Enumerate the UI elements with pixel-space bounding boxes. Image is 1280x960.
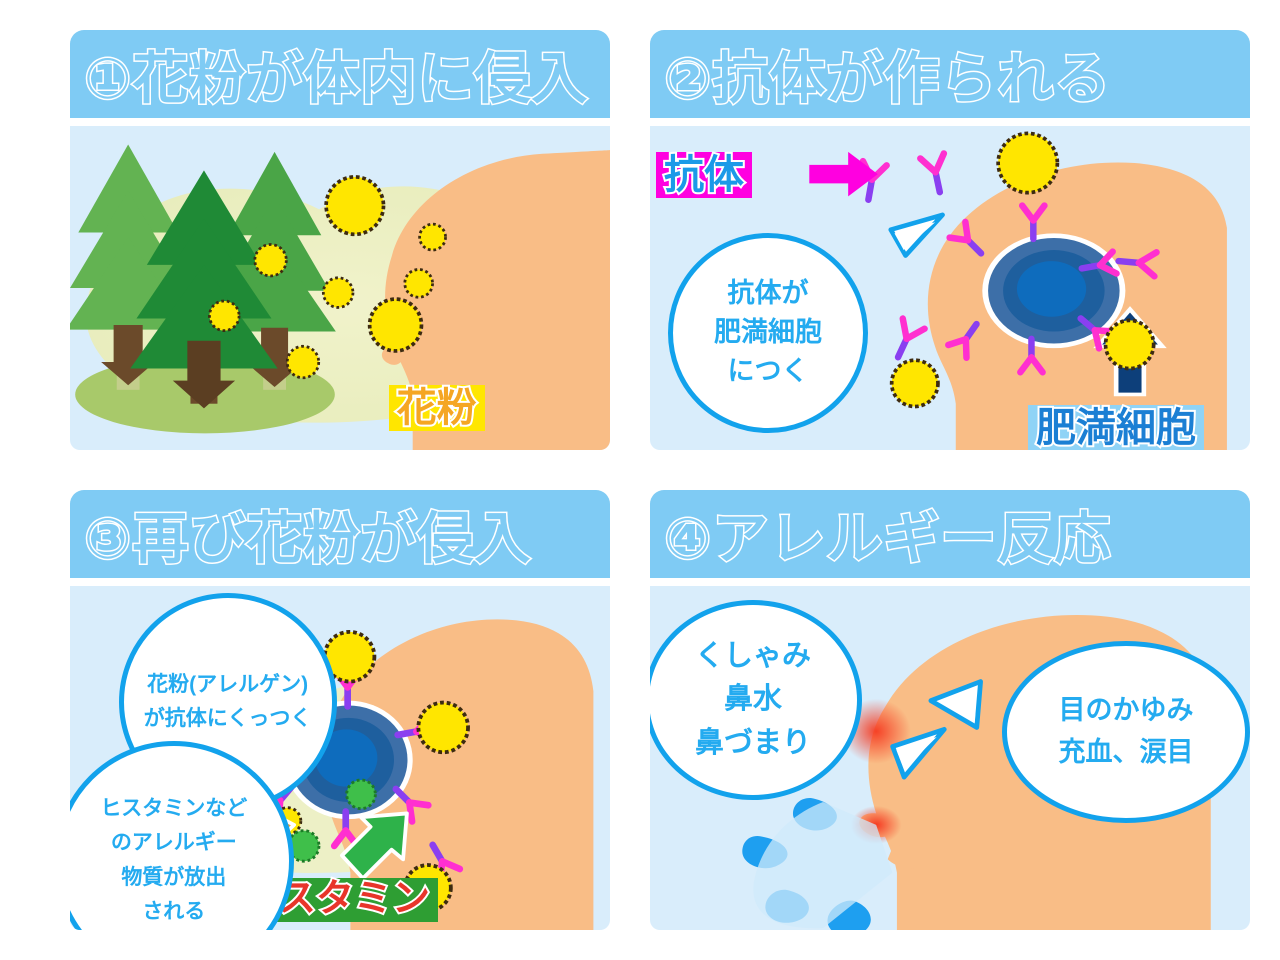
bubble-line: につく [728, 352, 809, 391]
bubble-line: 充血、涙目 [1059, 732, 1194, 774]
panel-2-header: ②抗体が作られる [650, 30, 1250, 118]
panel-4-title: ④アレルギー反応 [664, 494, 1111, 575]
panel-allergic-reaction: ④アレルギー反応 [640, 480, 1280, 960]
bubble-line: 鼻づまり [695, 722, 811, 766]
bubble-line: ヒスタミンなど [100, 792, 247, 827]
infographic-grid: ①花粉が体内に侵入 [0, 0, 1280, 960]
panel-2-title: ②抗体が作られる [664, 34, 1111, 115]
panel-antibody-creation: ②抗体が作られる [640, 0, 1280, 480]
panel-1-header: ①花粉が体内に侵入 [70, 30, 610, 118]
bubble-line: 目のかゆみ [1059, 690, 1194, 732]
pollen-grain-icon [287, 346, 318, 377]
panel-1-body: 花粉 [70, 126, 610, 450]
mast-cell-tag: 肥満細胞 [1028, 405, 1204, 450]
panel-3-title: ③再び花粉が侵入 [84, 494, 531, 575]
pollen-grains-group [70, 126, 610, 450]
panel-3-header: ③再び花粉が侵入 [70, 490, 610, 578]
pollen-grain-icon [370, 299, 422, 351]
panel-1-title: ①花粉が体内に侵入 [84, 34, 588, 115]
panel-4-body: くしゃみ 鼻水 鼻づまり 目のかゆみ 充血、涙目 [650, 586, 1250, 930]
bubble-line: 鼻水 [724, 678, 782, 722]
pollen-grain-icon [209, 301, 239, 331]
panel-second-invasion: ③再び花粉が侵入 [0, 480, 640, 960]
bubble-line: が抗体にくっつく [144, 702, 312, 736]
eye-symptoms-bubble: 目のかゆみ 充血、涙目 [1002, 641, 1250, 823]
panel-3-body: 花粉(アレルゲン) が抗体にくっつく ヒスタミンなど のアレルギー 物質が放出 … [70, 586, 610, 930]
bubble-line: くしゃみ [695, 635, 811, 679]
pollen-grain-icon [323, 278, 353, 308]
bubble-line: 花粉(アレルゲン) [147, 668, 308, 702]
pollen-grain-icon [326, 177, 383, 234]
bubble-line: 肥満細胞 [714, 313, 822, 352]
bubble-line: される [142, 895, 205, 930]
panel-2-body: 抗体 抗体が 肥満細胞 につく [650, 126, 1250, 450]
antibody-attach-bubble: 抗体が 肥満細胞 につく [668, 233, 868, 433]
panel-pollen-invasion: ①花粉が体内に侵入 [0, 0, 640, 480]
bubble-line: 物質が放出 [121, 861, 226, 896]
bubble-line: 抗体が [728, 274, 809, 313]
pollen-grain-icon [405, 269, 433, 297]
nose-symptoms-bubble: くしゃみ 鼻水 鼻づまり [650, 600, 862, 800]
pollen-grain-icon [255, 244, 286, 275]
panel-4-header: ④アレルギー反応 [650, 490, 1250, 578]
bubble-line: のアレルギー [111, 826, 237, 861]
pollen-tag: 花粉 [389, 385, 485, 431]
antibody-tag: 抗体 [656, 152, 752, 198]
pollen-grain-icon [420, 224, 446, 250]
